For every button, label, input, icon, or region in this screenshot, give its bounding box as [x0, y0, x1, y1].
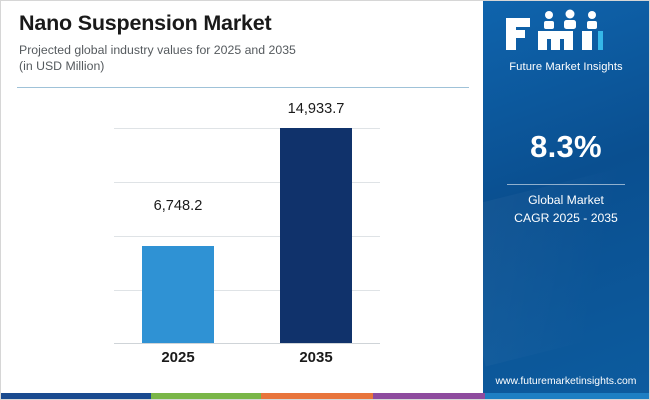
- website-url: www.futuremarketinsights.com: [483, 376, 649, 387]
- bar-chart: 6,748.2 14,933.7 2025 2035: [1, 93, 485, 383]
- strip-segment-4: [373, 393, 485, 399]
- fmi-logo-icon: [502, 9, 630, 58]
- infographic-page: Nano Suspension Market Projected global …: [0, 0, 650, 400]
- bar-value-2025: 6,748.2: [113, 198, 243, 214]
- cagr-caption-line-2: CAGR 2025 - 2035: [514, 211, 618, 225]
- subtitle-line-1: Projected global industry values for 202…: [19, 43, 296, 57]
- x-label-2025: 2025: [113, 349, 243, 366]
- x-axis-labels: 2025 2035: [114, 349, 380, 373]
- strip-segment-5: [485, 393, 650, 399]
- cagr-caption-line-1: Global Market: [528, 193, 604, 207]
- cagr-caption: Global Market CAGR 2025 - 2035: [483, 192, 649, 227]
- page-subtitle: Projected global industry values for 202…: [19, 42, 467, 75]
- strip-segment-2: [151, 393, 261, 399]
- fmi-logo-block: Future Market Insights: [483, 9, 649, 73]
- plot-area: 6,748.2 14,933.7: [114, 128, 380, 343]
- x-label-2035: 2035: [251, 349, 381, 366]
- strip-segment-1: [1, 393, 151, 399]
- bar-2025: [142, 246, 214, 343]
- chart-panel: Nano Suspension Market Projected global …: [1, 1, 485, 399]
- x-axis-line: [114, 343, 380, 344]
- header-divider: [17, 87, 469, 88]
- cagr-value: 8.3%: [483, 129, 649, 165]
- fmi-logo-subtitle: Future Market Insights: [483, 61, 649, 73]
- header: Nano Suspension Market Projected global …: [1, 1, 485, 75]
- bar-value-2035: 14,933.7: [251, 101, 381, 117]
- strip-segment-3: [261, 393, 373, 399]
- page-title: Nano Suspension Market: [19, 11, 467, 36]
- subtitle-line-2: (in USD Million): [19, 59, 104, 73]
- cagr-divider: [507, 184, 625, 185]
- stat-panel: Future Market Insights 8.3% Global Marke…: [483, 1, 649, 399]
- bar-2035: [280, 128, 352, 343]
- bottom-color-strip: [1, 393, 650, 399]
